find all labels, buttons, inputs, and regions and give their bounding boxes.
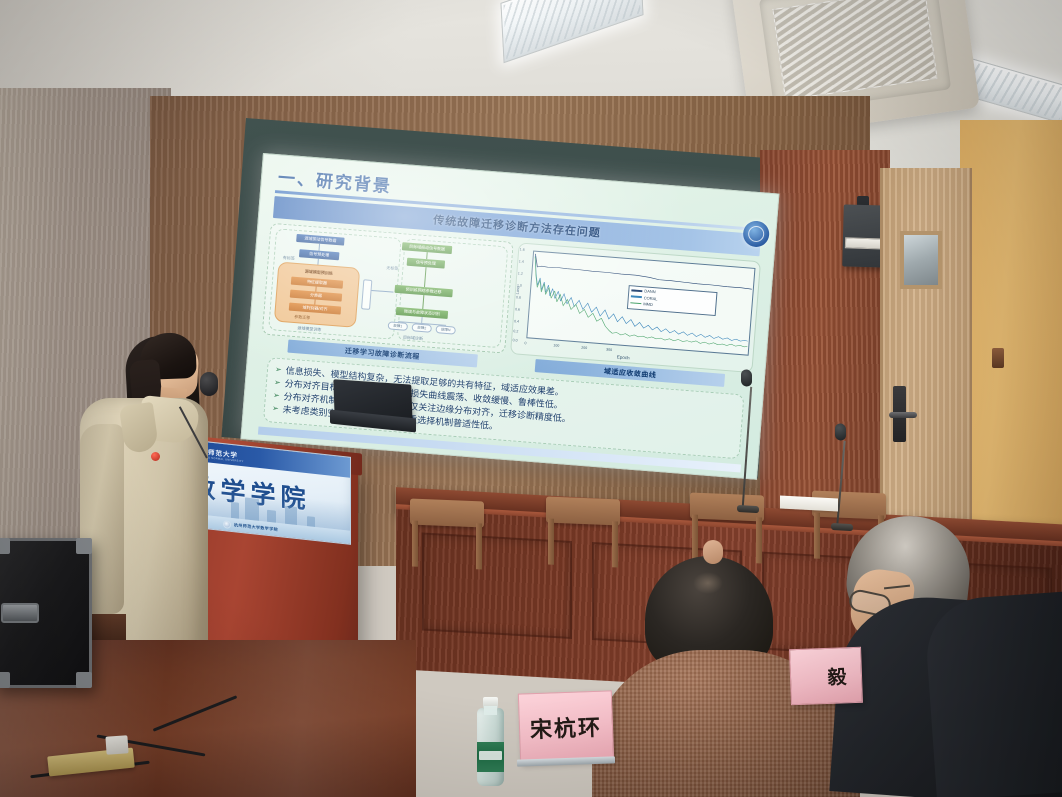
- bullet-arrow-icon: ➢: [272, 403, 280, 415]
- presenter-badge-icon: [151, 452, 160, 461]
- legend-swatch-mmd: [630, 302, 641, 304]
- chart-xtick: 100: [553, 343, 559, 347]
- chart-xtick: 0: [524, 341, 526, 345]
- chart-ytick: 1.6: [520, 247, 525, 251]
- figure-flowchart: 源域振动信号数据 信号预处理 源域模型预训练 特征提取器 分类器 域判别器/对齐…: [261, 223, 514, 370]
- table-microphone-right[interactable]: [835, 423, 865, 535]
- bullet-arrow-icon: ➢: [273, 390, 281, 402]
- series-line-dann: [533, 254, 752, 289]
- bullet-arrow-icon: ➢: [275, 364, 283, 376]
- chart-ytick: 0.6: [515, 307, 520, 311]
- figure-loss-chart: DANN CORAL MMD: [508, 242, 761, 389]
- attendee-shoulder: [923, 591, 1062, 797]
- flowchart-canvas: 源域振动信号数据 信号预处理 源域模型预训练 特征提取器 分类器 域判别器/对齐…: [262, 223, 514, 354]
- chart-ytick: 1.0: [517, 283, 522, 287]
- presentation-slide: 一、研究背景 传统故障迁移诊断方法存在问题 源域振动信号数据 信号预处理: [242, 154, 779, 479]
- legend-label: CORAL: [644, 295, 658, 301]
- chair[interactable]: [404, 498, 490, 574]
- card-reader-icon[interactable]: [992, 348, 1004, 368]
- name-placard-text: 宋杭环: [529, 710, 602, 744]
- chart-ytick: 1.2: [518, 271, 523, 275]
- case-handle[interactable]: [1, 603, 39, 623]
- door-handle[interactable]: [889, 412, 917, 418]
- chart-xlabel: Epoch: [617, 354, 630, 360]
- power-adapter: [105, 735, 128, 754]
- university-seal-icon: [223, 520, 231, 529]
- chart-ytick: 1.4: [519, 259, 524, 263]
- flow-leaf: 故障1: [388, 321, 409, 331]
- chart-ytick: 0.4: [514, 319, 519, 323]
- chart-xtick: 200: [581, 346, 587, 350]
- door-window: [900, 231, 942, 289]
- attendee-ear: [703, 540, 723, 564]
- name-placard: 毅: [789, 647, 863, 705]
- flow-leaf: 故障N: [435, 325, 456, 335]
- legend-label: DANN: [644, 289, 656, 295]
- chart-ytick: 0.8: [516, 295, 521, 299]
- flow-zone-caption: 目标域诊断: [403, 335, 423, 343]
- chart-ytick: 0.2: [513, 329, 518, 333]
- chart-ytick: 0.0: [512, 338, 517, 342]
- table-microphone-left[interactable]: [741, 369, 771, 521]
- legend-label: MMD: [643, 301, 653, 307]
- chart-plot-area: DANN CORAL MMD: [526, 250, 756, 355]
- name-placard-text: 毅: [827, 662, 849, 690]
- bullet-arrow-icon: ➢: [274, 377, 282, 389]
- wall-far-right: [960, 120, 1062, 570]
- chart-canvas: DANN CORAL MMD: [509, 242, 761, 373]
- projection-screen: 一、研究背景 传统故障迁移诊断方法存在问题 源域振动信号数据 信号预处理: [240, 153, 779, 480]
- water-bottle[interactable]: [477, 708, 504, 786]
- name-placard: 宋杭环: [518, 690, 614, 763]
- conference-room-photo: 一、研究背景 传统故障迁移诊断方法存在问题 源域振动信号数据 信号预处理: [0, 0, 1062, 797]
- flow-mini-label: 无标签: [386, 265, 398, 272]
- flight-case: [0, 538, 92, 688]
- flow-mini-label: 有标签: [283, 255, 295, 262]
- podium-microphone[interactable]: [200, 372, 218, 396]
- chair[interactable]: [540, 496, 626, 572]
- legend-swatch-coral: [631, 296, 642, 298]
- legend-swatch-dann: [631, 289, 642, 291]
- flow-leaf: 故障2: [411, 323, 432, 333]
- podium-footer-text: 杭州师范大学数学学院: [234, 522, 278, 533]
- flow-mini-label: 参数迁移: [294, 314, 310, 321]
- chart-xtick: 300: [606, 348, 612, 352]
- bottle-label: [477, 742, 504, 772]
